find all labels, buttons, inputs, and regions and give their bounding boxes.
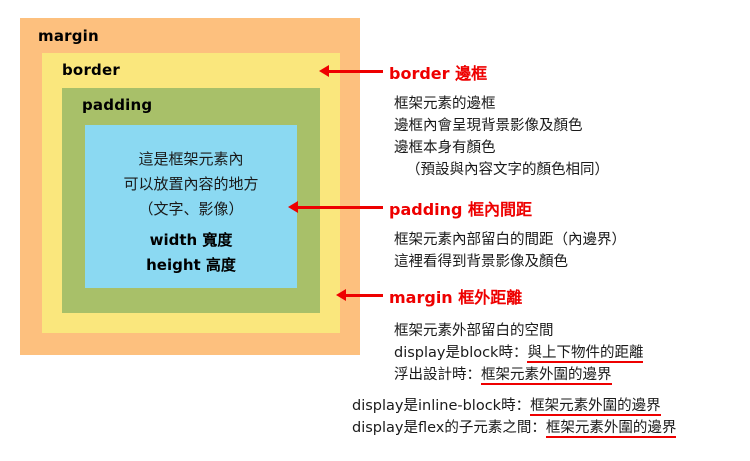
extra-display-notes: display是inline-block時：框架元素外圍的邊界 display是… bbox=[352, 395, 676, 439]
border-box-label: border bbox=[62, 61, 120, 79]
annotation-border-lines: 框架元素的邊框 邊框內會呈現背景影像及顏色 邊框本身有顏色 （預設與內容文字的顏… bbox=[389, 93, 609, 181]
content-line-2: 可以放置內容的地方 bbox=[85, 172, 297, 197]
annotation-margin-line-1: 框架元素外部留白的空間 bbox=[394, 320, 643, 342]
extra-line-flex: display是flex的子元素之間：框架元素外圍的邊界 bbox=[352, 417, 676, 439]
padding-box-label: padding bbox=[82, 96, 152, 114]
annotation-padding-line-2: 這裡看得到背景影像及顏色 bbox=[394, 251, 626, 273]
content-box: 這是框架元素內 可以放置內容的地方 （文字、影像） width 寬度 heigh… bbox=[85, 125, 297, 288]
extra-line-flex-underlined: 框架元素外圍的邊界 bbox=[546, 420, 677, 438]
annotation-margin: margin 框外距離 框架元素外部留白的空間 display是block時：與… bbox=[389, 284, 643, 386]
content-line-1: 這是框架元素內 bbox=[85, 147, 297, 172]
margin-box-label: margin bbox=[38, 27, 99, 45]
annotation-border-title: border 邊框 bbox=[389, 60, 609, 84]
annotation-border-line-4: （預設與內容文字的顏色相同） bbox=[394, 159, 609, 181]
content-width-label: width 寬度 bbox=[85, 228, 297, 253]
border-arrow-icon bbox=[328, 70, 383, 73]
annotation-margin-line-3-underlined: 框架元素外圍的邊界 bbox=[481, 367, 612, 385]
annotation-margin-line-2: display是block時：與上下物件的距離 bbox=[394, 342, 643, 364]
extra-line-inline-block-underlined: 框架元素外圍的邊界 bbox=[530, 398, 661, 416]
annotation-margin-line-3: 浮出設計時：框架元素外圍的邊界 bbox=[394, 364, 643, 386]
annotation-border: border 邊框 框架元素的邊框 邊框內會呈現背景影像及顏色 邊框本身有顏色 … bbox=[389, 60, 609, 181]
border-box: border padding 這是框架元素內 可以放置內容的地方 （文字、影像）… bbox=[42, 53, 340, 333]
annotation-padding-line-1: 框架元素內部留白的間距（內邊界） bbox=[394, 229, 626, 251]
annotation-padding-title: padding 框內間距 bbox=[389, 196, 626, 220]
annotation-border-line-1: 框架元素的邊框 bbox=[394, 93, 609, 115]
annotation-margin-title: margin 框外距離 bbox=[389, 284, 643, 308]
annotation-padding-lines: 框架元素內部留白的間距（內邊界） 這裡看得到背景影像及顏色 bbox=[389, 229, 626, 273]
padding-box: padding 這是框架元素內 可以放置內容的地方 （文字、影像） width … bbox=[62, 88, 320, 313]
margin-arrow-icon bbox=[345, 294, 383, 297]
margin-box: margin border padding 這是框架元素內 可以放置內容的地方 … bbox=[20, 18, 360, 355]
annotation-border-line-2: 邊框內會呈現背景影像及顏色 bbox=[394, 115, 609, 137]
content-line-3: （文字、影像） bbox=[85, 197, 297, 222]
annotation-padding: padding 框內間距 框架元素內部留白的間距（內邊界） 這裡看得到背景影像及… bbox=[389, 196, 626, 273]
content-box-text: 這是框架元素內 可以放置內容的地方 （文字、影像） width 寬度 heigh… bbox=[85, 147, 297, 278]
annotation-margin-line-2-underlined: 與上下物件的距離 bbox=[527, 345, 643, 363]
extra-line-inline-block: display是inline-block時：框架元素外圍的邊界 bbox=[352, 395, 676, 417]
extra-line-flex-prefix: display是flex的子元素之間： bbox=[352, 420, 546, 436]
content-height-label: height 高度 bbox=[85, 253, 297, 278]
box-model-diagram-stage: margin border padding 這是框架元素內 可以放置內容的地方 … bbox=[0, 0, 750, 461]
annotation-margin-lines: 框架元素外部留白的空間 display是block時：與上下物件的距離 浮出設計… bbox=[389, 320, 643, 386]
annotation-margin-line-2-prefix: display是block時： bbox=[394, 345, 527, 361]
annotation-border-line-3: 邊框本身有顏色 bbox=[394, 137, 609, 159]
extra-line-inline-block-prefix: display是inline-block時： bbox=[352, 398, 530, 414]
annotation-margin-line-3-prefix: 浮出設計時： bbox=[394, 367, 481, 383]
padding-arrow-icon bbox=[297, 206, 383, 209]
